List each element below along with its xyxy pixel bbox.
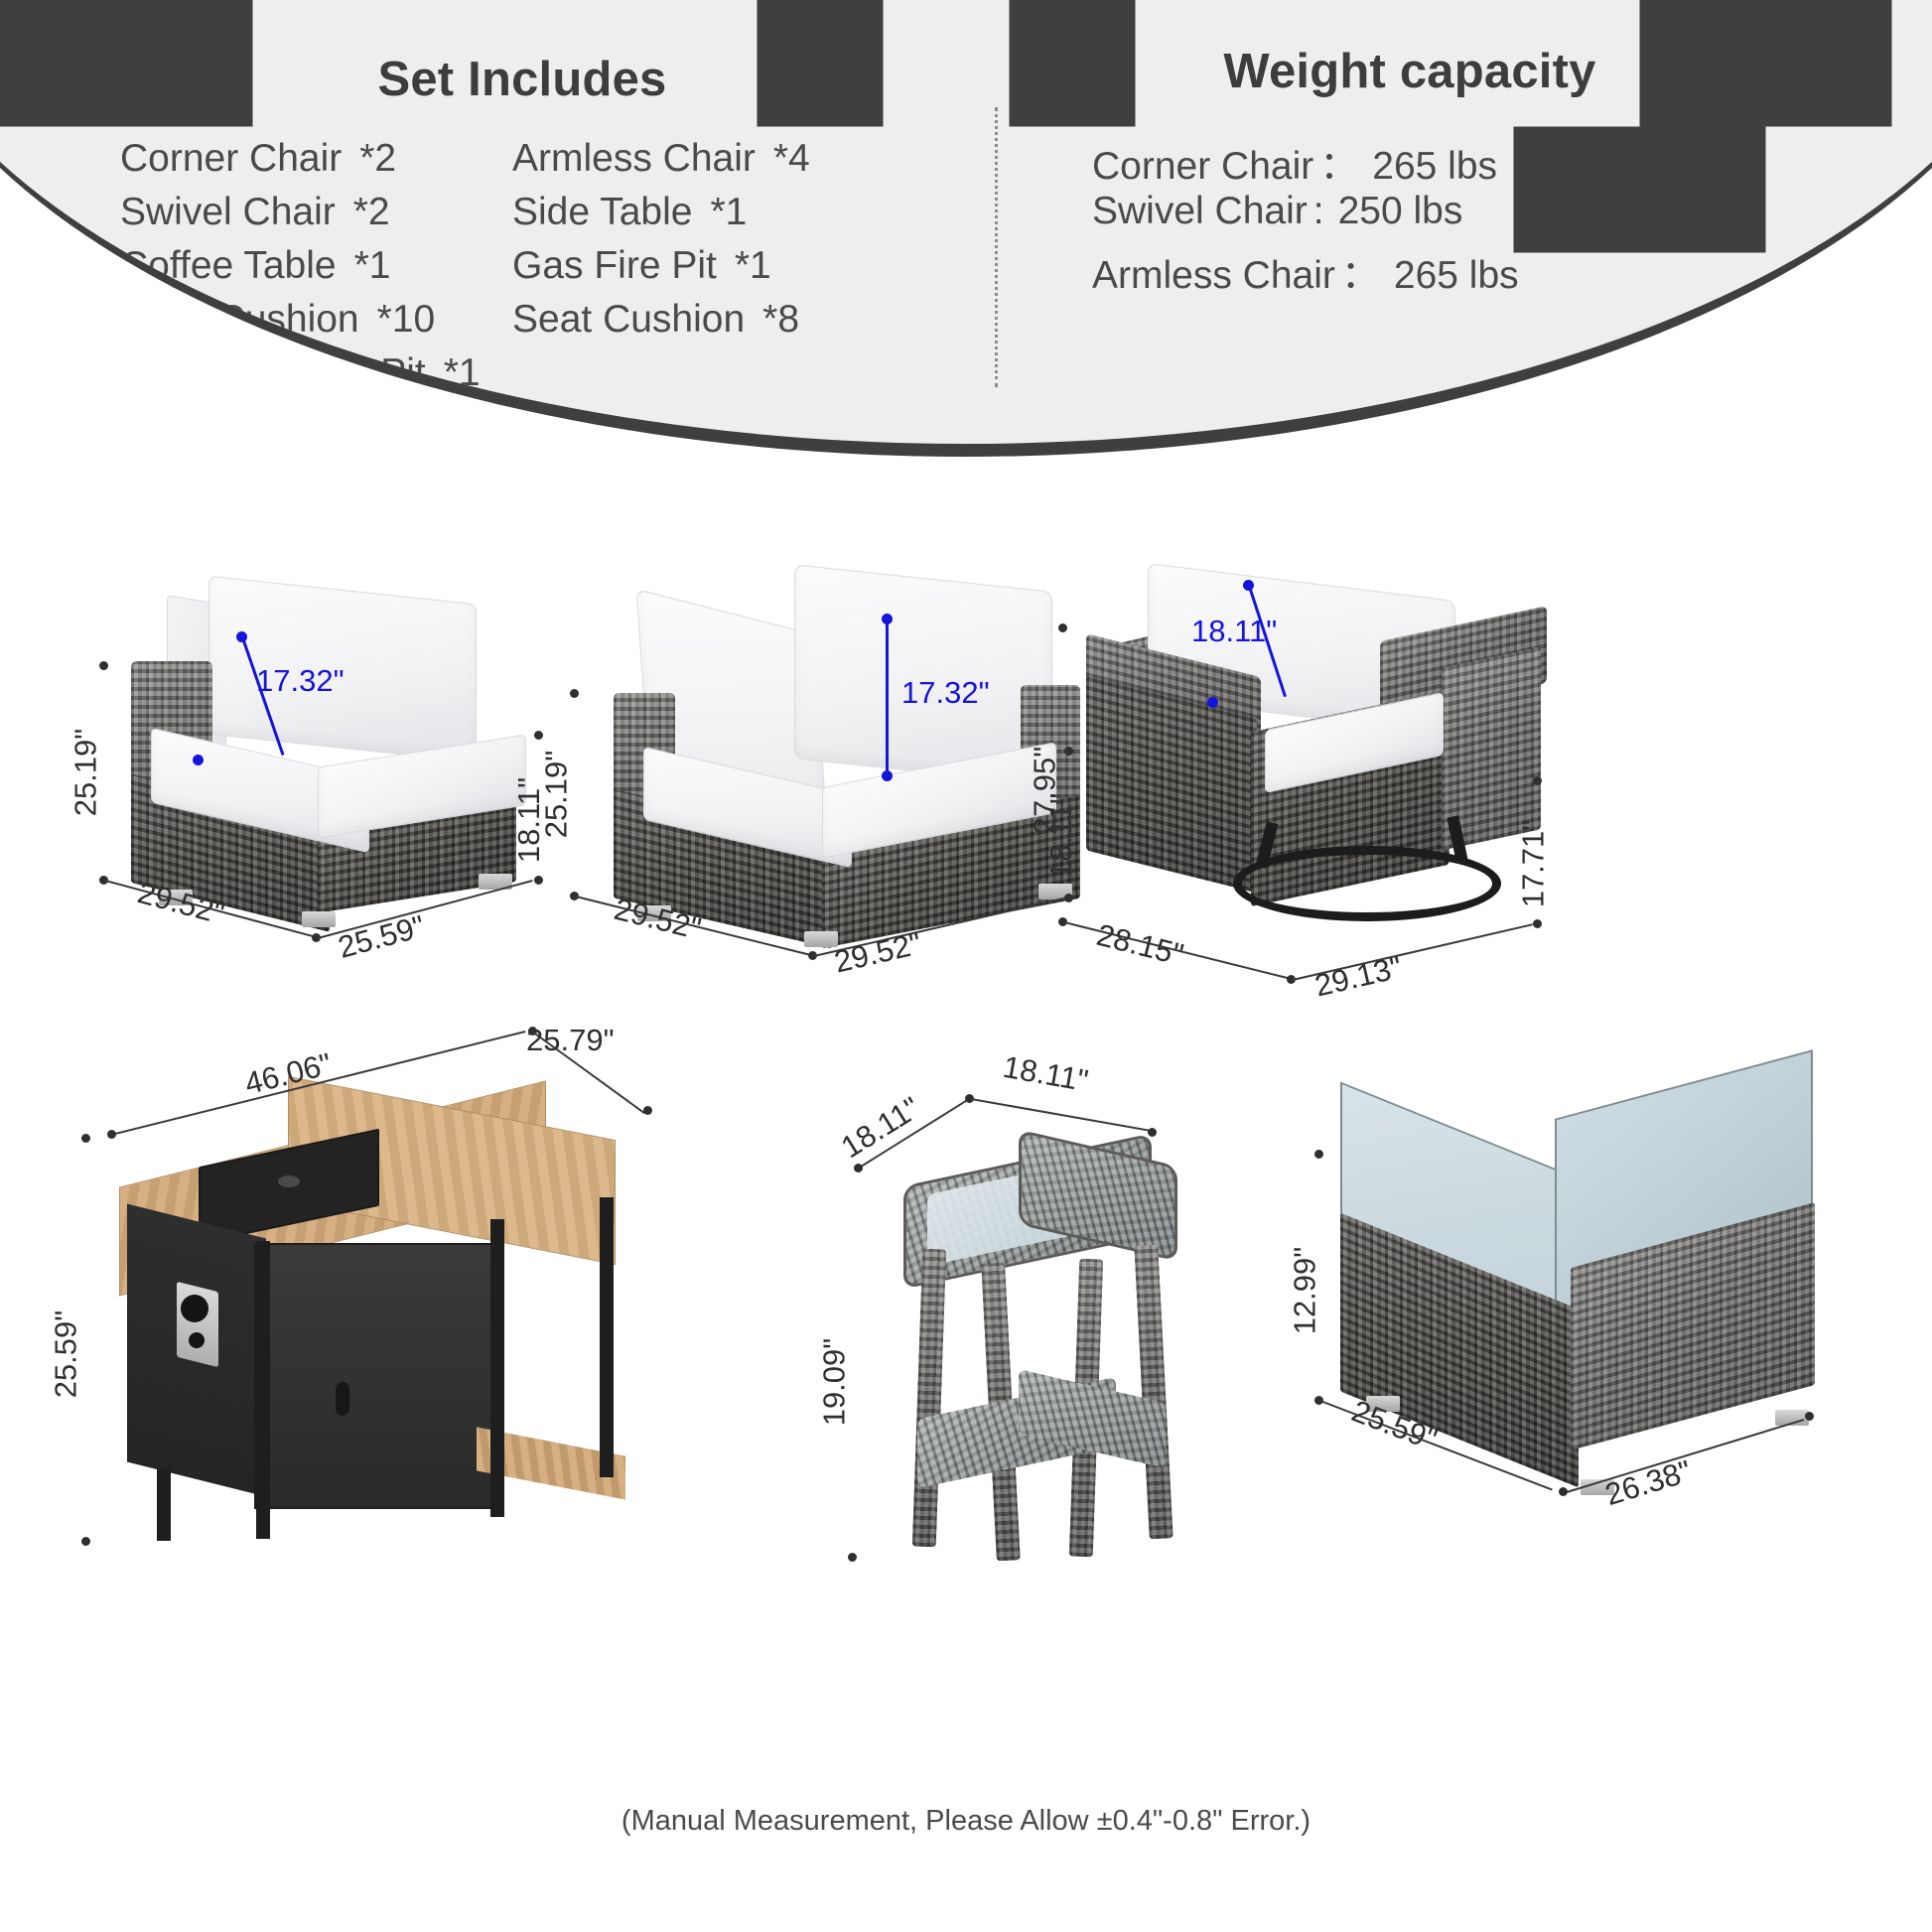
weight-value: 265 lbs: [1372, 145, 1497, 189]
dim-cushion-depth: 17.32": [256, 663, 345, 699]
item-name: Corner Chair: [120, 137, 342, 181]
item-name: Swivel Chair: [120, 191, 336, 234]
product-dimension-grid: 17.32" 25.19" 29.52" 25.59" 18.11": [0, 556, 1932, 1787]
product-gas-fire-pit: 46.06" 25.79" 25.59": [79, 1072, 695, 1747]
dim-height: 12.99": [1287, 1247, 1322, 1335]
weight-colon: ：: [1341, 244, 1380, 300]
dim-width: 18.11": [1001, 1049, 1091, 1099]
table-leg: [157, 1469, 171, 1541]
list-item: Corner Chair ： 265 lbs: [1092, 135, 1787, 190]
dim-endpoint: [1533, 919, 1542, 928]
dim-height: 27.95": [1027, 747, 1062, 835]
item-name: Seat Cushion: [512, 298, 745, 342]
product-side-table: 18.11" 18.11" 19.09": [844, 1082, 1281, 1737]
item-name: Coffee Table: [120, 244, 337, 288]
seat-height-dim-line: [1052, 860, 1054, 1001]
dim-endpoint: [1058, 623, 1067, 632]
dim-endpoint: [99, 661, 108, 670]
set-includes-section: Set Includes Corner Chair *2 Swivel Chai…: [95, 52, 949, 405]
dim-endpoint: [534, 876, 543, 885]
list-item: Coffee Table *1: [120, 244, 512, 298]
set-includes-right-column: Armless Chair *4 Side Table *1 Gas Fire …: [512, 137, 929, 405]
dim-endpoint: [81, 1134, 90, 1143]
header-content: Set Includes Corner Chair *2 Swivel Chai…: [0, 0, 1932, 457]
cushion-depth-dot: [882, 614, 893, 624]
item-qty: *2: [359, 137, 396, 181]
product-swivel-chair: 18.11" 27.95" 28.15" 29.13" 17.71": [1052, 566, 1608, 1013]
burner-hole: [278, 1175, 300, 1187]
height-dim-line: [79, 1072, 81, 1475]
weight-value: 250 lbs: [1338, 190, 1463, 233]
measurement-disclaimer: (Manual Measurement, Please Allow ±0.4"-…: [0, 1805, 1932, 1838]
dim-endpoint: [643, 1106, 652, 1115]
table-leg: [600, 1197, 614, 1477]
cushion-depth-dot: [193, 755, 204, 765]
item-name: Cover For Fire Pit: [120, 351, 426, 395]
list-item: Swivel Chair : 250 lbs: [1092, 190, 1787, 244]
dim-depth: 25.79": [526, 1023, 615, 1058]
list-item: Gas Fire Pit *1: [512, 244, 929, 298]
dim-endpoint: [1533, 776, 1542, 785]
header-banner: Set Includes Corner Chair *2 Swivel Chai…: [0, 0, 1932, 457]
item-qty: *1: [710, 191, 747, 234]
list-item: Back Cushion *10: [120, 298, 512, 351]
dim-endpoint: [1148, 1128, 1157, 1137]
cushion-depth-dot: [1243, 580, 1254, 591]
igniter-button: [189, 1332, 205, 1348]
item-qty: *4: [773, 137, 810, 181]
chair-foot: [302, 911, 336, 927]
item-qty: *1: [444, 351, 481, 395]
dim-endpoint: [570, 689, 579, 698]
weight-label: Corner Chair: [1092, 145, 1313, 189]
dim-width: 29.13": [1311, 949, 1405, 1004]
cushion-depth-dot: [882, 770, 893, 781]
table-leg: [256, 1241, 270, 1539]
cabinet-door: [254, 1243, 492, 1509]
control-knob: [181, 1295, 208, 1322]
item-qty: *8: [762, 298, 799, 342]
cushion-depth-dot: [1207, 697, 1218, 708]
list-item: Armless Chair *4: [512, 137, 929, 191]
weight-label: Armless Chair: [1092, 254, 1335, 298]
dim-depth: 28.15": [1093, 917, 1187, 973]
dim-endpoint: [1314, 1150, 1323, 1159]
dim-cushion-depth: 18.11": [1191, 614, 1277, 649]
table-leg: [1134, 1245, 1173, 1540]
item-qty: *1: [354, 244, 391, 288]
weight-colon: ：: [1319, 135, 1358, 191]
set-includes-title: Set Includes: [95, 52, 949, 107]
weight-colon: :: [1313, 190, 1324, 233]
weight-capacity-rows: Corner Chair ： 265 lbs Swivel Chair : 25…: [1033, 135, 1787, 299]
set-includes-left-column: Corner Chair *2 Swivel Chair *2 Coffee T…: [95, 137, 512, 405]
dim-height: 25.59": [48, 1311, 83, 1399]
section-divider: [995, 107, 998, 387]
dim-width: 26.38": [1601, 1453, 1696, 1513]
height-dim-line: [556, 566, 558, 768]
item-name: Armless Chair: [512, 137, 756, 181]
table-leg: [912, 1249, 946, 1548]
list-item: Seat Cushion *8: [512, 298, 929, 351]
set-includes-columns: Corner Chair *2 Swivel Chair *2 Coffee T…: [95, 137, 949, 405]
table-leg: [490, 1219, 504, 1517]
dim-endpoint: [534, 731, 543, 740]
dim-width: 25.59": [335, 908, 429, 966]
product-coffee-table: 12.99" 25.59" 26.38": [1311, 1112, 1866, 1628]
list-item: Cover For Fire Pit *1: [120, 351, 512, 405]
cushion-depth-line: [886, 618, 889, 774]
dim-endpoint: [107, 1130, 116, 1139]
item-name: Gas Fire Pit: [512, 244, 717, 288]
width-dim-line: [971, 1098, 1152, 1132]
cushion-depth-dot: [236, 631, 247, 642]
list-item: Swivel Chair *2: [120, 191, 512, 244]
item-qty: *2: [353, 191, 390, 234]
dim-endpoint: [81, 1537, 90, 1546]
weight-capacity-title: Weight capacity: [1033, 44, 1787, 99]
dim-cushion-depth: 17.32": [901, 675, 990, 711]
weight-capacity-section: Weight capacity Corner Chair ： 265 lbs S…: [1033, 44, 1787, 299]
dim-endpoint: [1805, 1412, 1814, 1421]
item-qty: *10: [377, 298, 436, 342]
list-item: Side Table *1: [512, 191, 929, 244]
item-name: Side Table: [512, 191, 692, 234]
product-armless-chair: 17.32" 25.19" 29.52" 25.59" 18.11": [89, 576, 606, 993]
dim-seat-height: 17.71": [1515, 820, 1551, 908]
list-item: Armless Chair ： 265 lbs: [1092, 244, 1787, 299]
cabinet-door-handle: [336, 1382, 349, 1416]
dim-endpoint: [848, 1553, 857, 1562]
weight-label: Swivel Chair: [1092, 190, 1308, 233]
dim-height: 19.09": [816, 1338, 852, 1427]
item-name: Back Cushion: [120, 298, 359, 342]
dim-height: 25.19": [68, 729, 103, 817]
dim-height: 25.19": [538, 751, 574, 839]
list-item: Corner Chair *2: [120, 137, 512, 191]
weight-value: 265 lbs: [1394, 254, 1519, 298]
item-qty: *1: [735, 244, 771, 288]
